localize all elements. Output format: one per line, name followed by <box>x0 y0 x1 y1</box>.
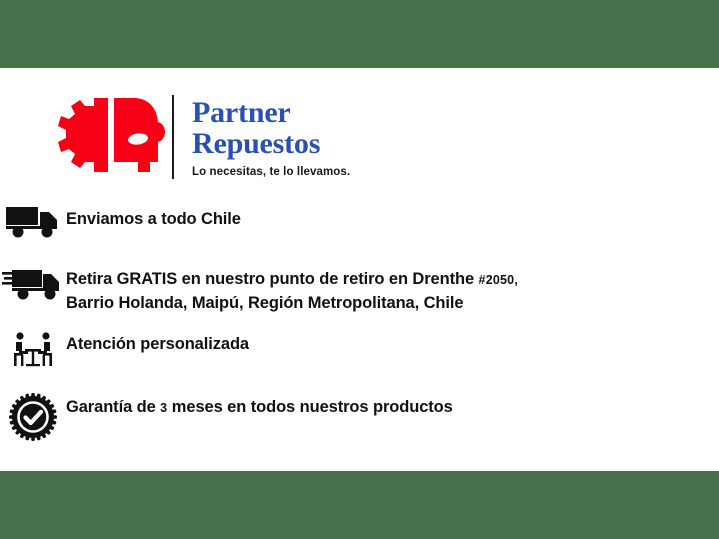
benefit-text-main: Enviamos a todo Chile <box>66 210 241 228</box>
benefits-list: Enviamos a todo Chile Retira GRATIS en n… <box>0 202 719 457</box>
benefit-label-shipping: Enviamos a todo Chile <box>66 202 241 231</box>
benefit-label-pickup: Retira GRATIS en nuestro punto de retiro… <box>66 264 518 315</box>
benefit-text-after: , <box>514 273 518 287</box>
brand-tagline: Lo necesitas, te lo llevamos. <box>192 166 350 178</box>
benefit-text-line-2: Barrio Holanda, Maipú, Región Metropolit… <box>66 294 463 312</box>
fast-truck-icon <box>0 264 66 300</box>
delivery-truck-icon <box>0 202 66 238</box>
top-green-band <box>0 0 719 68</box>
check-badge-icon <box>0 391 66 441</box>
benefit-text-main: Retira GRATIS en nuestro punto de retiro… <box>66 270 479 288</box>
gear-car-icon <box>58 94 166 180</box>
brand-logo-lockup: Partner Repuestos Lo necesitas, te lo ll… <box>58 94 350 180</box>
benefit-row-warranty: Garantía de 3 meses en todos nuestros pr… <box>0 391 719 441</box>
benefit-text-after: meses en todos nuestros productos <box>167 398 452 416</box>
brand-line-2: Repuestos <box>192 128 350 159</box>
benefit-text-main: Atención personalizada <box>66 335 249 353</box>
benefit-row-shipping: Enviamos a todo Chile <box>0 202 719 248</box>
benefit-label-attention: Atención personalizada <box>66 329 249 356</box>
logo-divider <box>172 95 174 179</box>
benefit-text-address-number: #2050 <box>479 273 515 287</box>
content-canvas: Partner Repuestos Lo necesitas, te lo ll… <box>0 68 719 471</box>
brand-wordmark: Partner Repuestos Lo necesitas, te lo ll… <box>192 97 350 178</box>
benefit-text-main: Garantía de <box>66 398 160 416</box>
benefit-row-attention: Atención personalizada <box>0 329 719 375</box>
benefit-label-warranty: Garantía de 3 meses en todos nuestros pr… <box>66 391 453 420</box>
people-at-table-icon <box>0 329 66 369</box>
bottom-green-band <box>0 471 719 539</box>
benefit-row-pickup: Retira GRATIS en nuestro punto de retiro… <box>0 264 719 315</box>
brand-line-1: Partner <box>192 97 350 128</box>
